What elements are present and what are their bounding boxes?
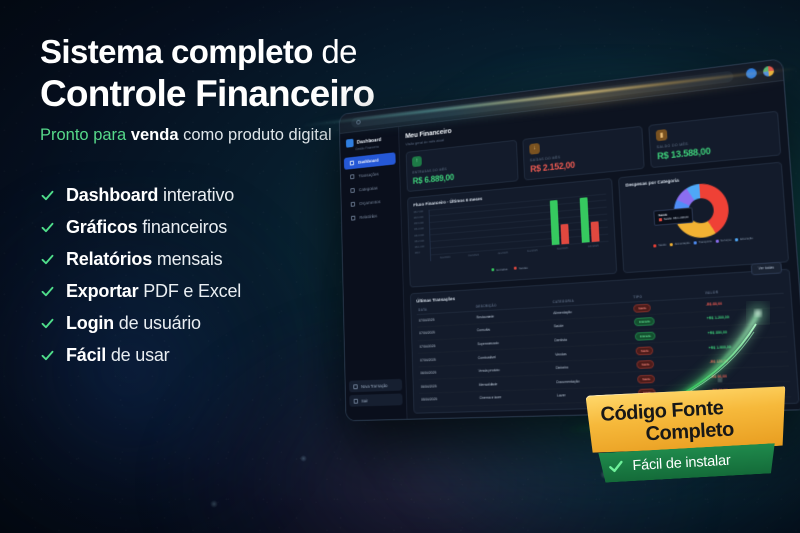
x-tick-label: Jan/2025 — [488, 250, 517, 255]
status-badge: Saída — [637, 360, 654, 369]
check-icon — [40, 220, 55, 235]
grid-icon — [350, 161, 354, 166]
cell-type: Saída — [635, 370, 708, 387]
x-tick-label: Abr/2025 — [578, 243, 609, 248]
sidebar-item-relatrios[interactable]: Relatórios — [345, 208, 397, 225]
check-icon — [40, 316, 55, 331]
wallet-icon: ▮ — [656, 129, 668, 141]
feature-list: Dashboard interativoGráficos financeiros… — [40, 181, 241, 373]
cell-value: +R$ 1.200,00 — [704, 307, 786, 326]
headline-subtitle-bold: venda — [131, 126, 179, 144]
status-badge: Entrada — [634, 317, 654, 326]
table-column-header: Valor — [703, 284, 784, 298]
headline-line-1-bold: Sistema completo — [40, 33, 313, 70]
arrow-down-icon: ↓ — [529, 142, 540, 154]
bar-entradas[interactable] — [550, 200, 560, 244]
legend-label: Saídas — [519, 265, 528, 270]
bar-group — [550, 199, 569, 244]
sidebar: Dashboard Gestão Financeira DashboardTra… — [340, 127, 407, 420]
cell-type: Saída — [635, 355, 708, 372]
status-badge: Saída — [636, 346, 653, 355]
cell-value: -R$ 120,00 — [707, 352, 789, 370]
donut-legend-item: Transporte — [694, 240, 713, 244]
sidebar-footer-label: Nova Transação — [361, 383, 388, 389]
legend-swatch — [654, 244, 657, 247]
headline-line-1: Sistema completo de — [40, 33, 480, 71]
y-tick-label: R$ 6.000 — [414, 215, 429, 219]
feature-item: Gráficos financeiros — [40, 213, 241, 242]
legend-label: Serviços — [720, 238, 731, 242]
y-tick-label: R$ 7.000 — [414, 209, 429, 213]
sidebar-item-label: Categorias — [359, 186, 378, 193]
cell-category: Vendas — [553, 344, 635, 361]
legend-item: Saídas — [514, 255, 528, 274]
legend-swatch — [670, 242, 673, 245]
sidebar-footer-label: Sair — [361, 398, 368, 403]
legend-swatch — [716, 239, 719, 242]
cell-value: -R$ 90,00 — [708, 367, 790, 385]
feature-label: Exportar PDF e Excel — [66, 281, 241, 302]
legend-label: Educação — [740, 236, 753, 240]
legend-swatch — [492, 268, 495, 271]
y-axis: R$ 7.000R$ 6.000R$ 5.000R$ 4.000R$ 3.000… — [414, 209, 431, 262]
feature-item: Exportar PDF e Excel — [40, 277, 241, 306]
tooltip-value: Saúde: R$ 1.200,00 — [664, 216, 689, 221]
tooltip-title: Saúde — [658, 211, 688, 218]
feature-label: Login de usuário — [66, 313, 201, 334]
check-icon — [40, 252, 55, 267]
cell-type: Saída — [631, 297, 704, 315]
check-icon — [40, 284, 55, 299]
legend-item: Entradas — [491, 257, 508, 276]
donut-wrap: Saúde Saúde: R$ 1.200,00 — [626, 176, 779, 242]
cell-category: Dentista — [552, 330, 634, 348]
promo-banner: Sistema completo de Controle Financeiro … — [0, 0, 800, 533]
logout-icon — [354, 398, 358, 403]
kpi-card: ↓Saídas do mêsR$ 2.152,00 — [522, 125, 644, 180]
donut-tooltip: Saúde Saúde: R$ 1.200,00 — [653, 207, 693, 226]
feature-label: Relatórios mensais — [66, 249, 222, 270]
check-icon — [40, 188, 55, 203]
wallet-icon — [351, 202, 355, 207]
check-icon — [40, 348, 55, 363]
headline-line-1-rest: de — [313, 33, 357, 70]
sidebar-item-label: Transações — [358, 172, 378, 179]
y-tick-label: R$ 1.000 — [415, 245, 430, 249]
x-tick-label: Fev/2025 — [517, 248, 547, 253]
table-column-header: Tipo — [631, 288, 703, 301]
ver-todas-button[interactable]: Ver todas — [750, 261, 782, 275]
kpi-label: Saldo do mês — [657, 133, 773, 149]
cell-value: -R$ 85,00 — [703, 293, 785, 312]
cell-category: Saúde — [552, 316, 633, 334]
x-tick-label: Mar/2025 — [547, 246, 578, 251]
cell-description: Mensalidade — [477, 375, 555, 391]
legend-label: Transporte — [698, 240, 712, 244]
sidebar-footer: Nova TransaçãoSair — [346, 379, 407, 414]
donut-chart-card: Despesas por Categoria Saúde Saúde: R$ 1… — [618, 161, 789, 273]
legend-label: Entradas — [496, 267, 507, 272]
flow-chart-card: Fluxo Financeiro - Últimos 6 meses R$ 7.… — [407, 177, 617, 287]
table-column-header: Categoria — [551, 293, 632, 306]
plot-area: Nov/2024Dez/2024Jan/2025Fev/2025Mar/2025… — [429, 193, 609, 261]
donut-legend-item: Serviços — [716, 238, 732, 242]
donut-legend-item: Educação — [735, 236, 753, 240]
cell-type: Entrada — [632, 312, 705, 330]
feature-label: Fácil de usar — [66, 345, 169, 366]
tooltip-row: Saúde: R$ 1.200,00 — [658, 216, 688, 222]
chart-icon — [351, 216, 355, 221]
status-badge: Entrada — [635, 332, 655, 341]
sidebar-footer-novatransao[interactable]: Nova Transação — [349, 379, 402, 392]
y-tick-label: R$ 4.000 — [414, 227, 429, 231]
cell-type: Saída — [634, 341, 707, 358]
gridline — [430, 227, 607, 242]
kpi-card: ↑Entradas do mêsR$ 6.889,00 — [406, 139, 519, 191]
cell-description: Venda produto — [476, 361, 554, 378]
kpi-label: Saídas do mês — [530, 147, 637, 162]
bar-saidas[interactable] — [560, 223, 569, 243]
y-tick-label: R$ 0 — [415, 251, 430, 255]
cell-category: Alimentação — [551, 302, 632, 320]
sidebar-item-label: Dashboard — [358, 158, 378, 165]
status-badge: Saída — [638, 374, 655, 383]
y-tick-label: R$ 2.000 — [415, 239, 430, 243]
cell-category: Dinheiro — [553, 358, 635, 375]
sidebar-footer-sair[interactable]: Sair — [349, 393, 402, 406]
feature-item: Dashboard interativo — [40, 181, 241, 210]
legend-swatch — [735, 238, 738, 241]
sidebar-item-label: Relatórios — [359, 214, 377, 220]
tag-icon — [350, 188, 354, 193]
feature-label: Dashboard interativo — [66, 185, 234, 206]
kpi-card: ▮Saldo do mêsR$ 13.588,00 — [648, 110, 781, 168]
bar-entradas[interactable] — [580, 197, 590, 242]
legend-label: Alimentação — [674, 241, 690, 245]
legend-swatch — [514, 266, 517, 269]
green-plate-label: Fácil de instalar — [632, 452, 731, 473]
main-content: Meu Financeiro Visão geral do mês atual … — [399, 81, 800, 419]
logo-icon — [346, 139, 354, 148]
legend-swatch — [694, 241, 697, 244]
brand-title: Dashboard — [357, 137, 382, 145]
status-badge: Saída — [634, 303, 651, 312]
cell-type: Entrada — [633, 326, 706, 344]
headline-subtitle-green: Pronto para — [40, 126, 131, 144]
donut-chart-title: Despesas por Categoria — [625, 168, 774, 187]
bar-saidas[interactable] — [591, 221, 600, 242]
kpi-value: R$ 13.588,00 — [657, 139, 773, 161]
feature-item: Login de usuário — [40, 309, 241, 338]
legend-label: Saúde — [658, 243, 666, 247]
cell-date: 05/04/2025 — [419, 392, 478, 407]
cell-description: Cinema e lazer — [477, 389, 555, 405]
check-icon — [607, 458, 625, 476]
x-tick-label: Nov/2024 — [431, 255, 459, 260]
cell-value: +R$ 1.900,00 — [706, 337, 788, 355]
gridline — [431, 233, 609, 248]
bar-group — [580, 197, 600, 243]
list-icon — [350, 174, 354, 179]
feature-label: Gráficos financeiros — [66, 217, 227, 238]
donut-legend: SaúdeAlimentaçãoTransporteServiçosEducaç… — [629, 234, 780, 248]
x-tick-label: Dez/2024 — [459, 252, 488, 257]
cell-value: +R$ 350,00 — [705, 322, 787, 340]
plus-icon — [353, 384, 357, 389]
donut-legend-item: Saúde — [654, 243, 667, 247]
source-code-badge: Código Fonte Completo Fácil de instalar — [585, 384, 790, 491]
donut-legend-item: Alimentação — [670, 241, 690, 246]
arrow-up-icon: ↑ — [412, 155, 422, 166]
kpi-row: ↑Entradas do mêsR$ 6.889,00↓Saídas do mê… — [406, 110, 782, 191]
sidebar-item-label: Orçamentos — [359, 199, 380, 206]
donut-chart[interactable] — [672, 181, 730, 239]
y-tick-label: R$ 5.000 — [414, 221, 429, 225]
y-tick-label: R$ 3.000 — [414, 233, 429, 237]
app-shell: Dashboard Gestão Financeira DashboardTra… — [340, 81, 800, 420]
tooltip-swatch — [658, 218, 661, 221]
cell-category: Documentação — [554, 372, 636, 389]
feature-item: Relatórios mensais — [40, 245, 241, 274]
feature-item: Fácil de usar — [40, 341, 241, 370]
